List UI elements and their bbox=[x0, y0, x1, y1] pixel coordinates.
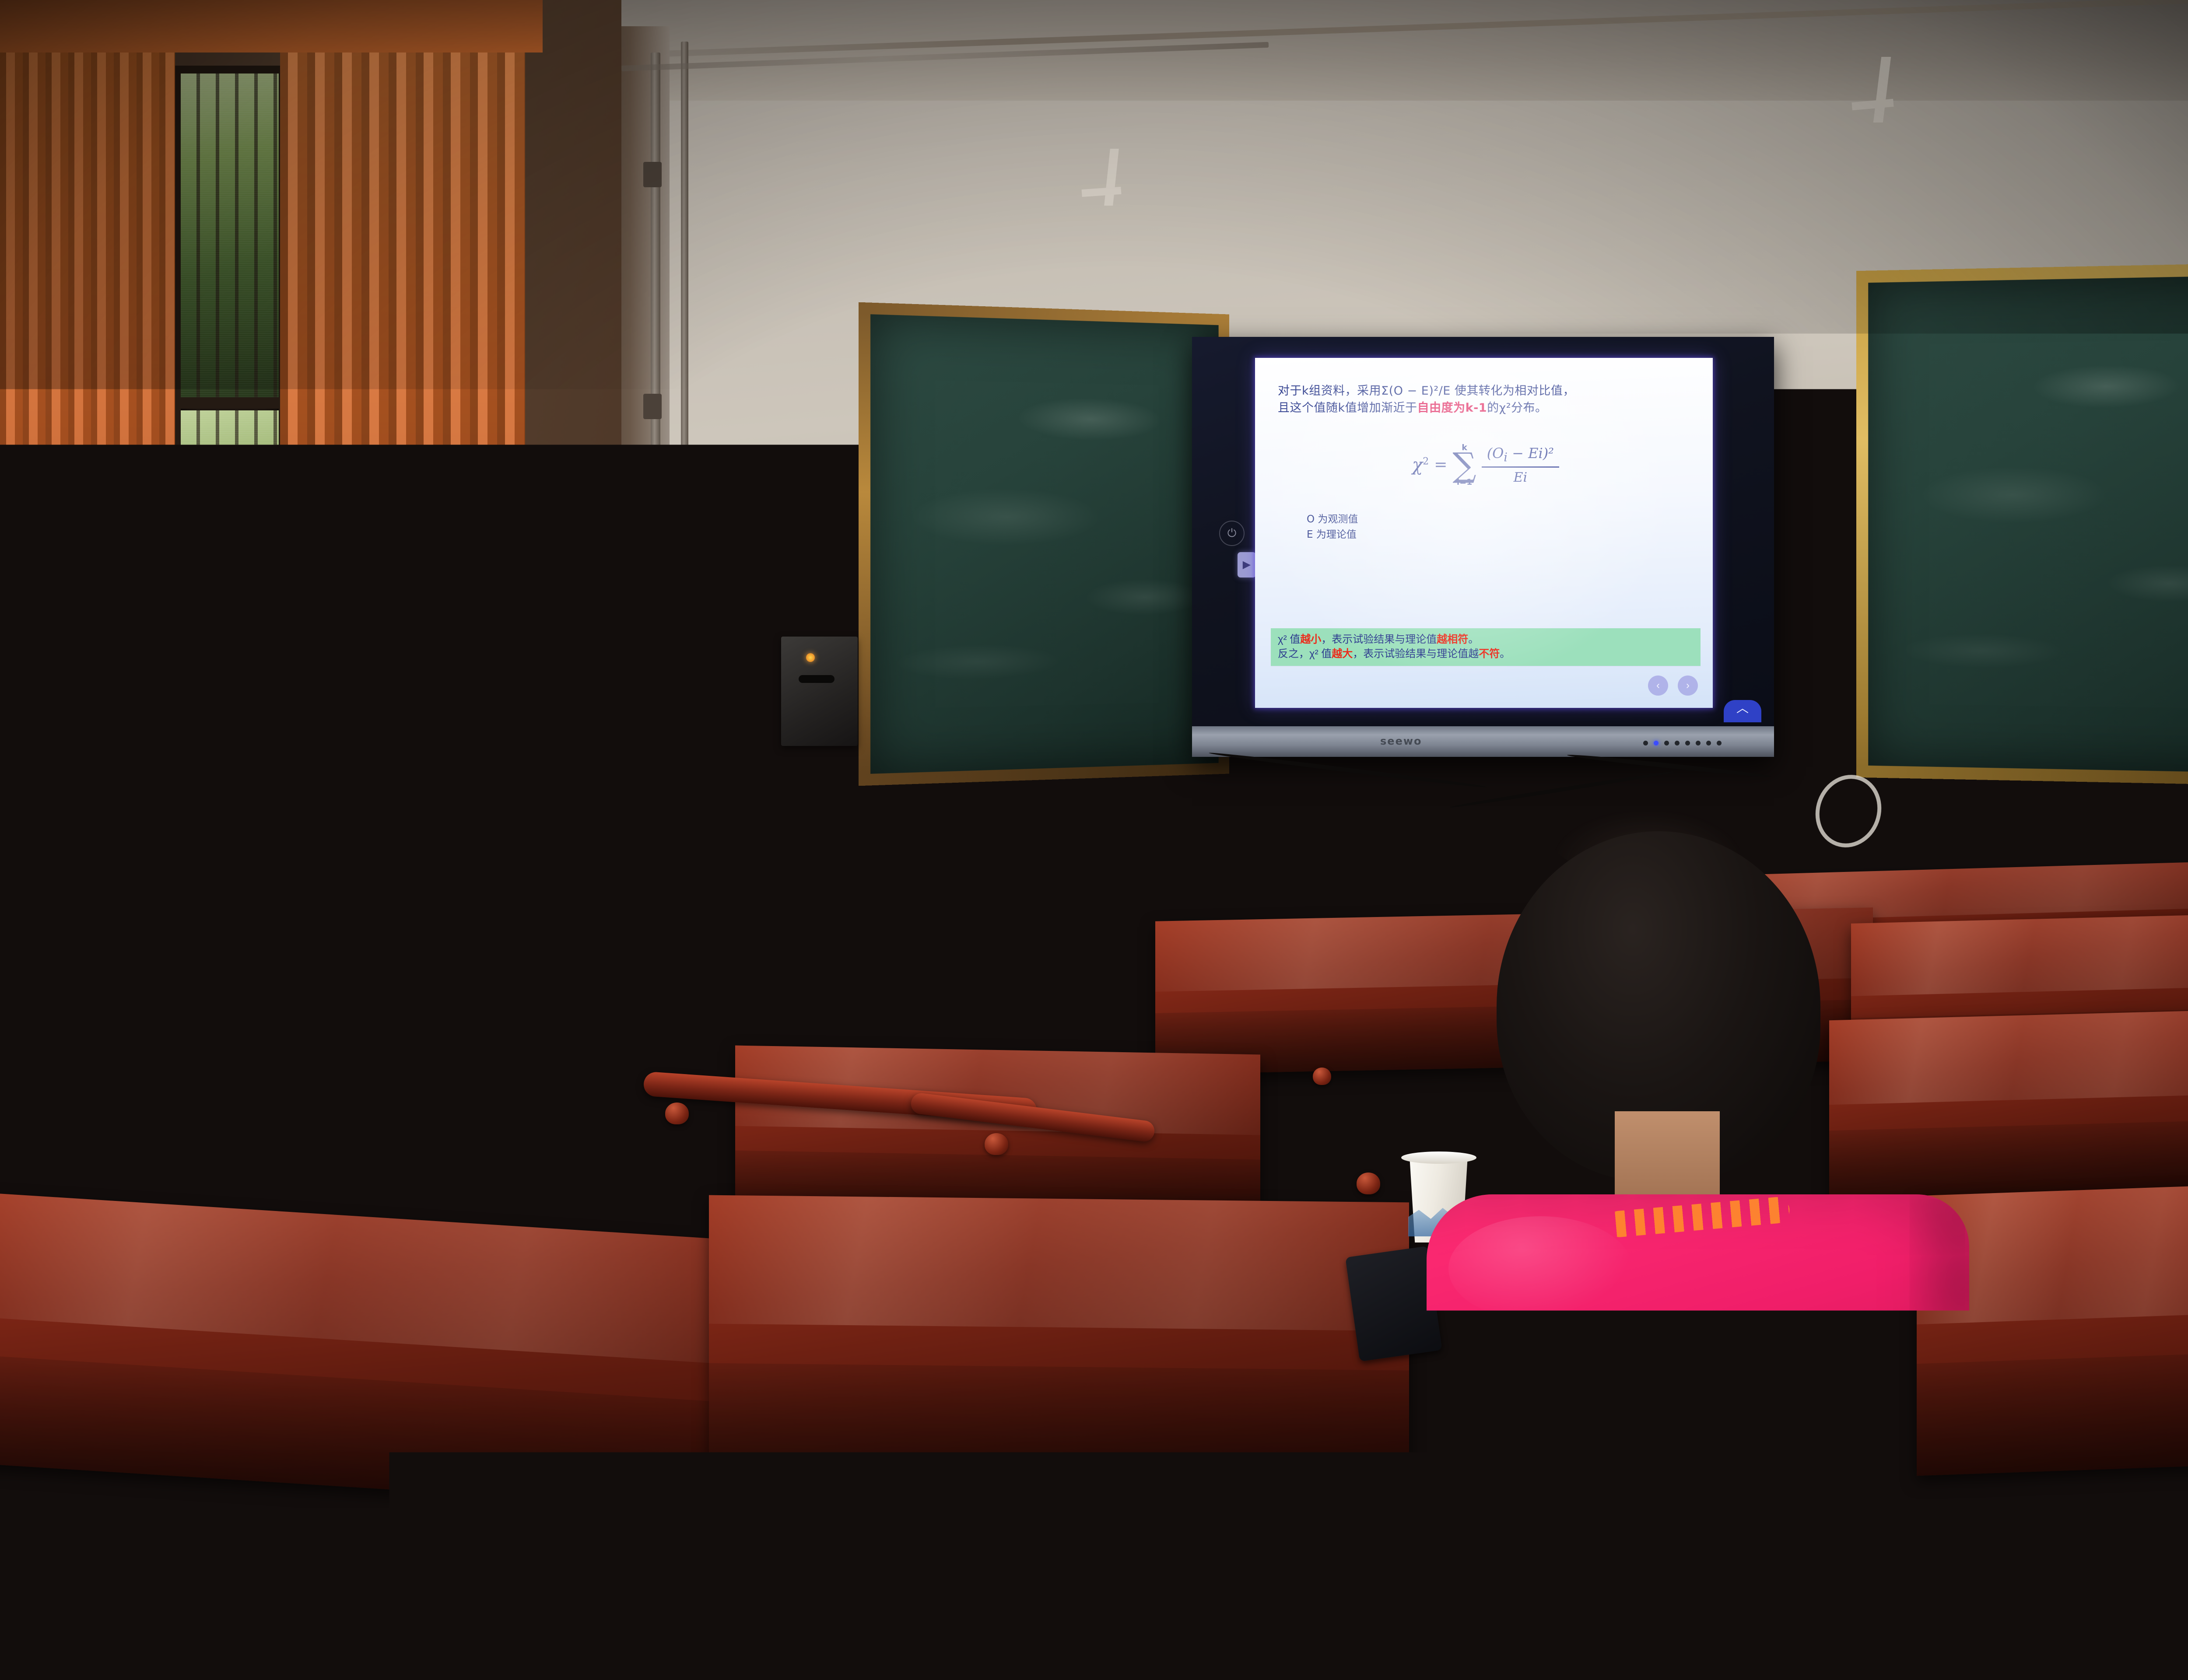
led-indicator bbox=[1675, 741, 1680, 745]
next-slide-button[interactable]: › bbox=[1678, 675, 1698, 696]
right-blackboard bbox=[1856, 263, 2188, 786]
conclusion-highlight: 越大 bbox=[1332, 648, 1353, 660]
wall-control-box[interactable] bbox=[781, 637, 858, 746]
lectern-top bbox=[131, 796, 525, 875]
paragraph-line-2b: 的χ²分布。 bbox=[1487, 401, 1547, 415]
slide-paragraph: 对于k组资料，采用Σ(O − E)²/E 使其转化为相对比值， 且这个值随k值增… bbox=[1278, 382, 1694, 416]
led-indicator bbox=[1696, 741, 1701, 745]
formula-fraction: (Oi − Ei)² Ei bbox=[1482, 445, 1559, 485]
conclusion-highlight: 不符 bbox=[1479, 648, 1500, 660]
conduit-pipe-vertical bbox=[681, 42, 688, 641]
curtain-rail bbox=[0, 0, 543, 52]
bottle-cap-top bbox=[84, 1439, 140, 1457]
formula-equals: = bbox=[1434, 456, 1447, 474]
projection-screen[interactable]: 对于k组资料，采用Σ(O − E)²/E 使其转化为相对比值， 且这个值随k值增… bbox=[1255, 358, 1713, 708]
led-indicator bbox=[1664, 741, 1669, 745]
slide-navigation[interactable]: ‹ › bbox=[1648, 675, 1698, 696]
control-box-slot bbox=[799, 675, 835, 683]
seated-student bbox=[1409, 831, 2000, 1680]
formula-lhs: χ2 bbox=[1412, 455, 1429, 475]
chalk-residue bbox=[1868, 276, 2188, 773]
lectern[interactable] bbox=[131, 787, 525, 1085]
desk-row-4[interactable] bbox=[709, 1195, 1409, 1483]
led-indicator bbox=[1643, 741, 1648, 745]
fraction-numerator: (Oi − Ei)² bbox=[1482, 445, 1559, 466]
slide-conclusion-box: χ² 值越小，表示试验结果与理论值越相符。 反之，χ² 值越大，表示试验结果与理… bbox=[1271, 628, 1701, 666]
led-indicator bbox=[1717, 741, 1722, 745]
window-pane-upper bbox=[181, 73, 279, 397]
presenter-hair-side bbox=[371, 573, 419, 652]
toolbar-tab-icon[interactable]: ▶ bbox=[1238, 552, 1256, 577]
window-screen-mesh bbox=[181, 73, 279, 397]
status-led-strip bbox=[1643, 741, 1722, 745]
fraction-denominator: Ei bbox=[1508, 468, 1533, 485]
sum-lower-limit: i=1 bbox=[1457, 478, 1473, 486]
interactive-whiteboard[interactable]: ⏻ ▶ 对于k组资料，采用Σ(O − E)²/E 使其转化为相对比值， 且这个值… bbox=[1192, 337, 1774, 757]
legend-line-theoretical: E 为理论值 bbox=[1307, 527, 1694, 543]
window-mullion bbox=[181, 397, 279, 409]
led-indicator bbox=[1706, 741, 1711, 745]
window-frame bbox=[173, 66, 287, 836]
symbol-legend: O 为观测值 E 为理论值 bbox=[1278, 512, 1694, 543]
prev-slide-button[interactable]: ‹ bbox=[1648, 675, 1668, 696]
conduit-pipe-vertical bbox=[651, 52, 660, 630]
glasses-icon bbox=[433, 586, 494, 607]
left-blackboard bbox=[859, 302, 1229, 786]
status-led-icon bbox=[806, 653, 815, 662]
desk-knob bbox=[665, 1102, 689, 1124]
bottle-body bbox=[70, 1531, 155, 1680]
classroom-photo: ⏻ ▶ 对于k组资料，采用Σ(O − E)²/E 使其转化为相对比值， 且这个值… bbox=[0, 0, 2188, 1680]
lectern-column bbox=[184, 871, 490, 1085]
desk-knob bbox=[1313, 1067, 1331, 1085]
student-shoulder-highlight bbox=[1448, 1216, 1632, 1321]
bottom-toolbar-tab-icon[interactable]: ︿ bbox=[1724, 700, 1761, 722]
desk-knob bbox=[1357, 1172, 1380, 1194]
blackboard-slide-handle[interactable] bbox=[1840, 503, 1847, 534]
chalk-residue bbox=[870, 314, 1219, 773]
power-icon[interactable]: ⏻ bbox=[1219, 521, 1245, 546]
water-bottle[interactable] bbox=[61, 1444, 162, 1680]
conclusion-highlight: 越小 bbox=[1300, 633, 1321, 645]
brand-logo: seewo bbox=[1380, 735, 1422, 747]
chi-square-formula: χ2 = k ∑ i=1 (Oi − Ei)² Ei bbox=[1278, 444, 1694, 486]
paragraph-line-2a: 且这个值随k值增加渐近于 bbox=[1278, 401, 1417, 415]
conclusion-line-1: χ² 值越小，表示试验结果与理论值越相符。 bbox=[1278, 632, 1694, 647]
conclusion-line-2: 反之，χ² 值越大，表示试验结果与理论值越不符。 bbox=[1278, 647, 1694, 661]
paragraph-line-1: 对于k组资料，采用Σ(O − E)²/E 使其转化为相对比值， bbox=[1278, 384, 1575, 398]
paragraph-highlight: 自由度为k-1 bbox=[1417, 401, 1487, 415]
sigma-icon: ∑ bbox=[1452, 452, 1476, 478]
legend-line-observed: O 为观测值 bbox=[1307, 512, 1694, 528]
whiteboard-bottom-bezel: seewo bbox=[1192, 726, 1774, 757]
conduit-clip bbox=[643, 162, 662, 187]
bottle-highlight bbox=[85, 1544, 92, 1676]
desk-knob bbox=[985, 1133, 1008, 1155]
summation-operator: k ∑ i=1 bbox=[1452, 444, 1476, 486]
led-indicator-active bbox=[1654, 741, 1659, 745]
conclusion-highlight: 越相符 bbox=[1437, 633, 1468, 645]
bottle-neck bbox=[87, 1487, 137, 1540]
conduit-clip bbox=[643, 394, 662, 419]
led-indicator bbox=[1685, 741, 1690, 745]
